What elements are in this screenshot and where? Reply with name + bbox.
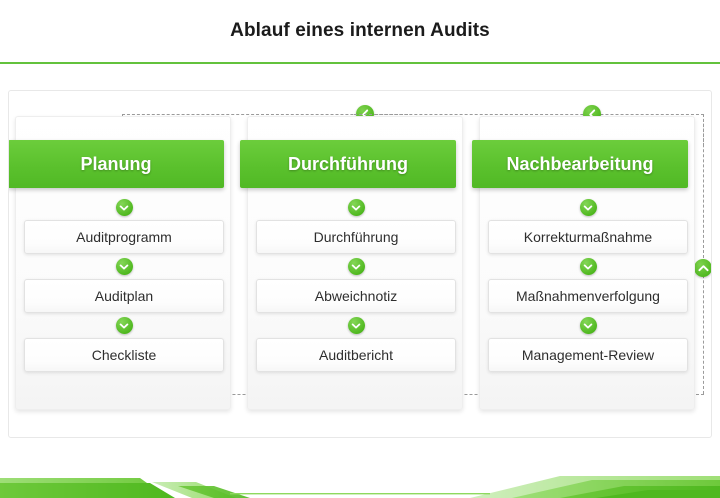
step-box[interactable]: Durchführung: [256, 220, 456, 254]
phase-columns: Planung Auditprogramm: [9, 91, 712, 438]
phase-column-planung[interactable]: Planung Auditprogramm: [15, 116, 231, 410]
step-label: Korrekturmaßnahme: [524, 229, 652, 245]
step-connector: [580, 254, 597, 279]
page-title: Ablauf eines internen Audits: [230, 20, 490, 42]
title-bar: Ablauf eines internen Audits: [0, 0, 720, 62]
step-box[interactable]: Management-Review: [488, 338, 688, 372]
step-connector: [580, 195, 597, 220]
chevron-down-icon: [580, 317, 597, 334]
phase-steps-durchfuehrung: Durchführung Abweichnotiz: [248, 195, 464, 372]
step-label: Management-Review: [522, 347, 654, 363]
chevron-down-icon: [580, 258, 597, 275]
step-label: Abweichnotiz: [315, 288, 398, 304]
chevron-down-icon: [580, 199, 597, 216]
phase-header-label: Planung: [81, 154, 152, 175]
phase-header-label: Nachbearbeitung: [506, 154, 653, 175]
phase-steps-nachbearbeitung: Korrekturmaßnahme Maßnahmenverfolgung: [480, 195, 696, 372]
step-connector: [348, 254, 365, 279]
step-label: Durchführung: [314, 229, 399, 245]
step-connector: [580, 313, 597, 338]
step-label: Auditplan: [95, 288, 153, 304]
step-connector: [116, 254, 133, 279]
title-divider: [0, 62, 720, 64]
phase-header-label: Durchführung: [288, 154, 408, 175]
chevron-down-icon: [348, 258, 365, 275]
step-label: Maßnahmenverfolgung: [516, 288, 660, 304]
phase-steps-planung: Auditprogramm Auditplan: [16, 195, 232, 372]
step-label: Auditprogramm: [76, 229, 172, 245]
step-label: Auditbericht: [319, 347, 393, 363]
step-connector: [348, 313, 365, 338]
step-connector: [348, 195, 365, 220]
step-box[interactable]: Auditbericht: [256, 338, 456, 372]
step-box[interactable]: Checkliste: [24, 338, 224, 372]
chevron-down-icon: [348, 199, 365, 216]
step-box[interactable]: Korrekturmaßnahme: [488, 220, 688, 254]
audit-flow-infographic: Ablauf eines internen Audits: [0, 0, 720, 498]
chevron-down-icon: [116, 317, 133, 334]
step-box[interactable]: Auditprogramm: [24, 220, 224, 254]
chevron-down-icon: [348, 317, 365, 334]
step-connector: [116, 195, 133, 220]
step-box[interactable]: Abweichnotiz: [256, 279, 456, 313]
step-box[interactable]: Maßnahmenverfolgung: [488, 279, 688, 313]
phase-header-nachbearbeitung[interactable]: Nachbearbeitung: [472, 140, 688, 188]
phase-header-durchfuehrung[interactable]: Durchführung: [240, 140, 456, 188]
chevron-down-icon: [116, 199, 133, 216]
phase-column-durchfuehrung[interactable]: Durchführung Durchführung: [247, 116, 463, 410]
phase-header-planung[interactable]: Planung: [8, 140, 224, 188]
step-label: Checkliste: [92, 347, 157, 363]
step-connector: [116, 313, 133, 338]
diagram-panel: Planung Auditprogramm: [8, 90, 712, 438]
step-box[interactable]: Auditplan: [24, 279, 224, 313]
footer-decoration: [0, 460, 720, 498]
chevron-down-icon: [116, 258, 133, 275]
phase-column-nachbearbeitung[interactable]: Nachbearbeitung Korrekturmaßnahme: [479, 116, 695, 410]
